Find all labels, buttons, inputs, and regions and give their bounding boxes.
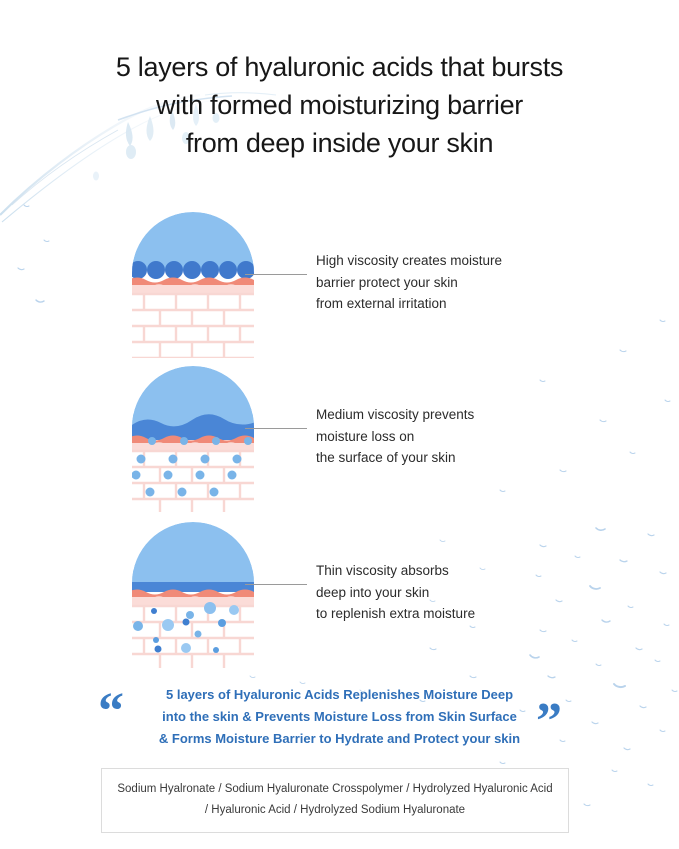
section-medium-viscosity: Medium viscosity prevents moisture loss … bbox=[0, 362, 679, 517]
caption-high-viscosity: High viscosity creates moisture barrier … bbox=[316, 250, 502, 315]
quote-line-2: into the skin & Prevents Moisture Loss f… bbox=[0, 706, 679, 728]
quote-line-3: & Forms Moisture Barrier to Hydrate and … bbox=[0, 728, 679, 750]
caption-line-2: barrier protect your skin bbox=[316, 272, 502, 294]
infographic-page: 5 layers of hyaluronic acids that bursts… bbox=[0, 0, 679, 849]
caption-line-3: to replenish extra moisture bbox=[316, 603, 475, 625]
caption-line-2: moisture loss on bbox=[316, 426, 474, 448]
quote-line-1: 5 layers of Hyaluronic Acids Replenishes… bbox=[0, 684, 679, 706]
caption-line-2: deep into your skin bbox=[316, 582, 475, 604]
caption-line-3: from external irritation bbox=[316, 293, 502, 315]
caption-line-1: Thin viscosity absorbs bbox=[316, 560, 475, 582]
caption-line-1: High viscosity creates moisture bbox=[316, 250, 502, 272]
connector-line-medium-viscosity bbox=[245, 428, 307, 429]
skin-layer-diagram-medium-viscosity bbox=[128, 362, 258, 512]
caption-line-1: Medium viscosity prevents bbox=[316, 404, 474, 426]
caption-medium-viscosity: Medium viscosity prevents moisture loss … bbox=[316, 404, 474, 469]
title-line-3: from deep inside your skin bbox=[0, 124, 679, 162]
section-high-viscosity: High viscosity creates moisture barrier … bbox=[0, 208, 679, 363]
caption-thin-viscosity: Thin viscosity absorbs deep into your sk… bbox=[316, 560, 475, 625]
ingredient-list-box: Sodium Hyalronate / Sodium Hyaluronate C… bbox=[101, 768, 569, 833]
title-line-2: with formed moisturizing barrier bbox=[0, 86, 679, 124]
caption-line-3: the surface of your skin bbox=[316, 447, 474, 469]
ingredient-line-1: Sodium Hyalronate / Sodium Hyaluronate C… bbox=[110, 779, 560, 800]
summary-quote-block: “ ” 5 layers of Hyaluronic Acids Repleni… bbox=[0, 678, 679, 753]
skin-layer-diagram-thin-viscosity bbox=[128, 518, 258, 668]
ingredient-line-2: / Hyaluronic Acid / Hydrolyzed Sodium Hy… bbox=[110, 800, 560, 821]
title-line-1: 5 layers of hyaluronic acids that bursts bbox=[0, 48, 679, 86]
quote-text: 5 layers of Hyaluronic Acids Replenishes… bbox=[0, 684, 679, 750]
page-title: 5 layers of hyaluronic acids that bursts… bbox=[0, 48, 679, 162]
section-thin-viscosity: Thin viscosity absorbs deep into your sk… bbox=[0, 518, 679, 673]
connector-line-thin-viscosity bbox=[245, 584, 307, 585]
connector-line-high-viscosity bbox=[245, 274, 307, 275]
skin-layer-diagram-high-viscosity bbox=[128, 208, 258, 358]
